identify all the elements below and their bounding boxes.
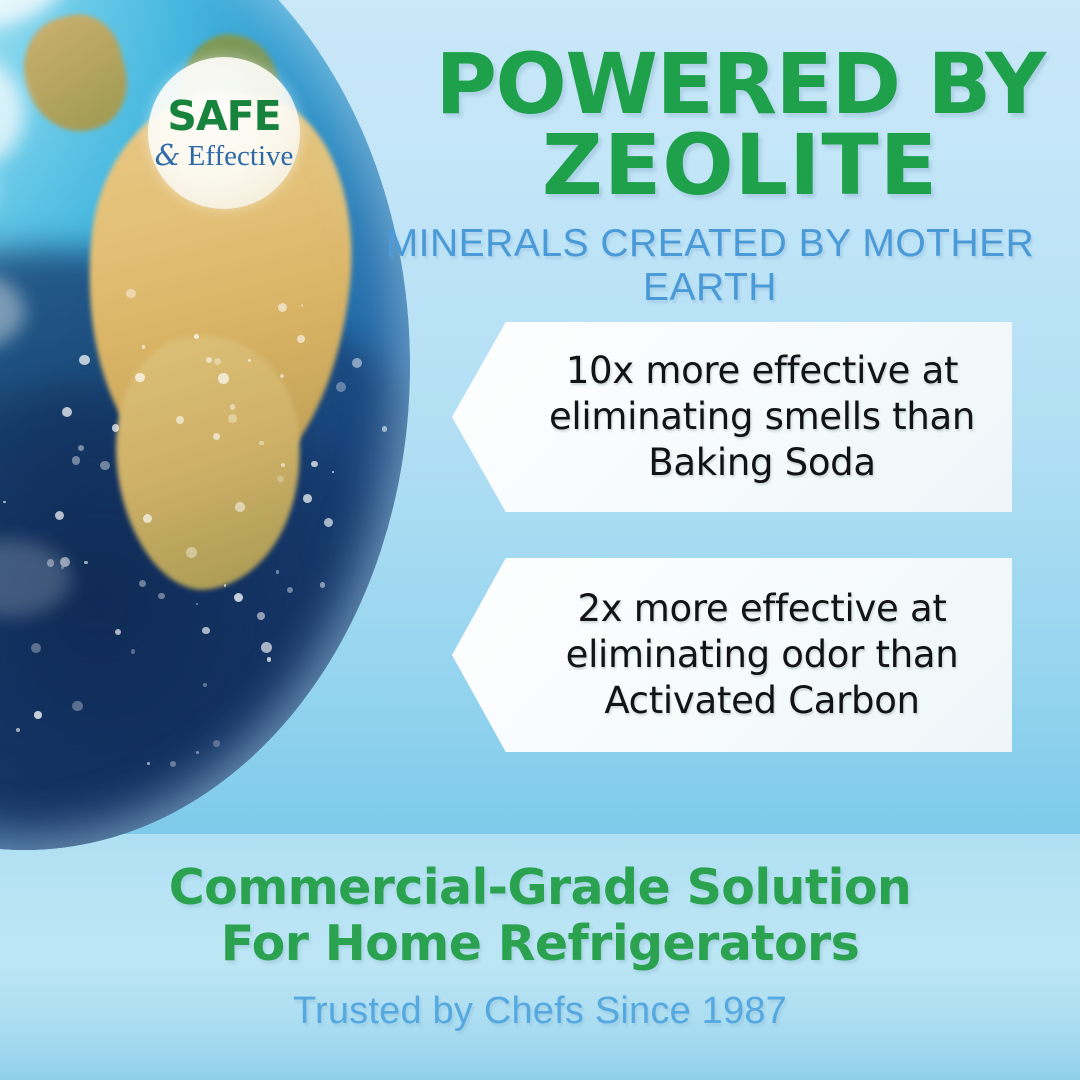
footer-heading: Commercial-Grade Solution For Home Refri… [0, 860, 1080, 973]
footer-heading-line-2: For Home Refrigerators [221, 915, 859, 972]
page-subtitle: MINERALS CREATED BY MOTHER EARTH [340, 222, 1080, 310]
benefit-callout-1: 10x more effective ateliminating smells … [452, 322, 1012, 512]
footer-tagline: Trusted by Chefs Since 1987 [0, 990, 1080, 1033]
benefit-callout-2: 2x more effective ateliminating odor tha… [452, 558, 1012, 752]
safe-effective-badge: SAFE & Effective [148, 57, 300, 209]
infographic-canvas: SAFE & Effective POWERED BY ZEOLITE MINE… [0, 0, 1080, 1080]
headline-line-2: ZEOLITE [400, 125, 1080, 206]
footer-heading-line-1: Commercial-Grade Solution [169, 859, 911, 916]
badge-effective-label: & Effective [155, 141, 294, 171]
footer-block: Commercial-Grade Solution For Home Refri… [0, 860, 1080, 1033]
badge-safe-label: SAFE [167, 96, 280, 137]
badge-ampersand: & [155, 138, 181, 172]
benefit-callout-1-text: 10x more effective ateliminating smells … [452, 348, 1012, 486]
badge-effective-word: Effective [188, 140, 294, 172]
benefit-callout-2-text: 2x more effective ateliminating odor tha… [452, 586, 1012, 724]
page-title: POWERED BY ZEOLITE [400, 44, 1080, 207]
